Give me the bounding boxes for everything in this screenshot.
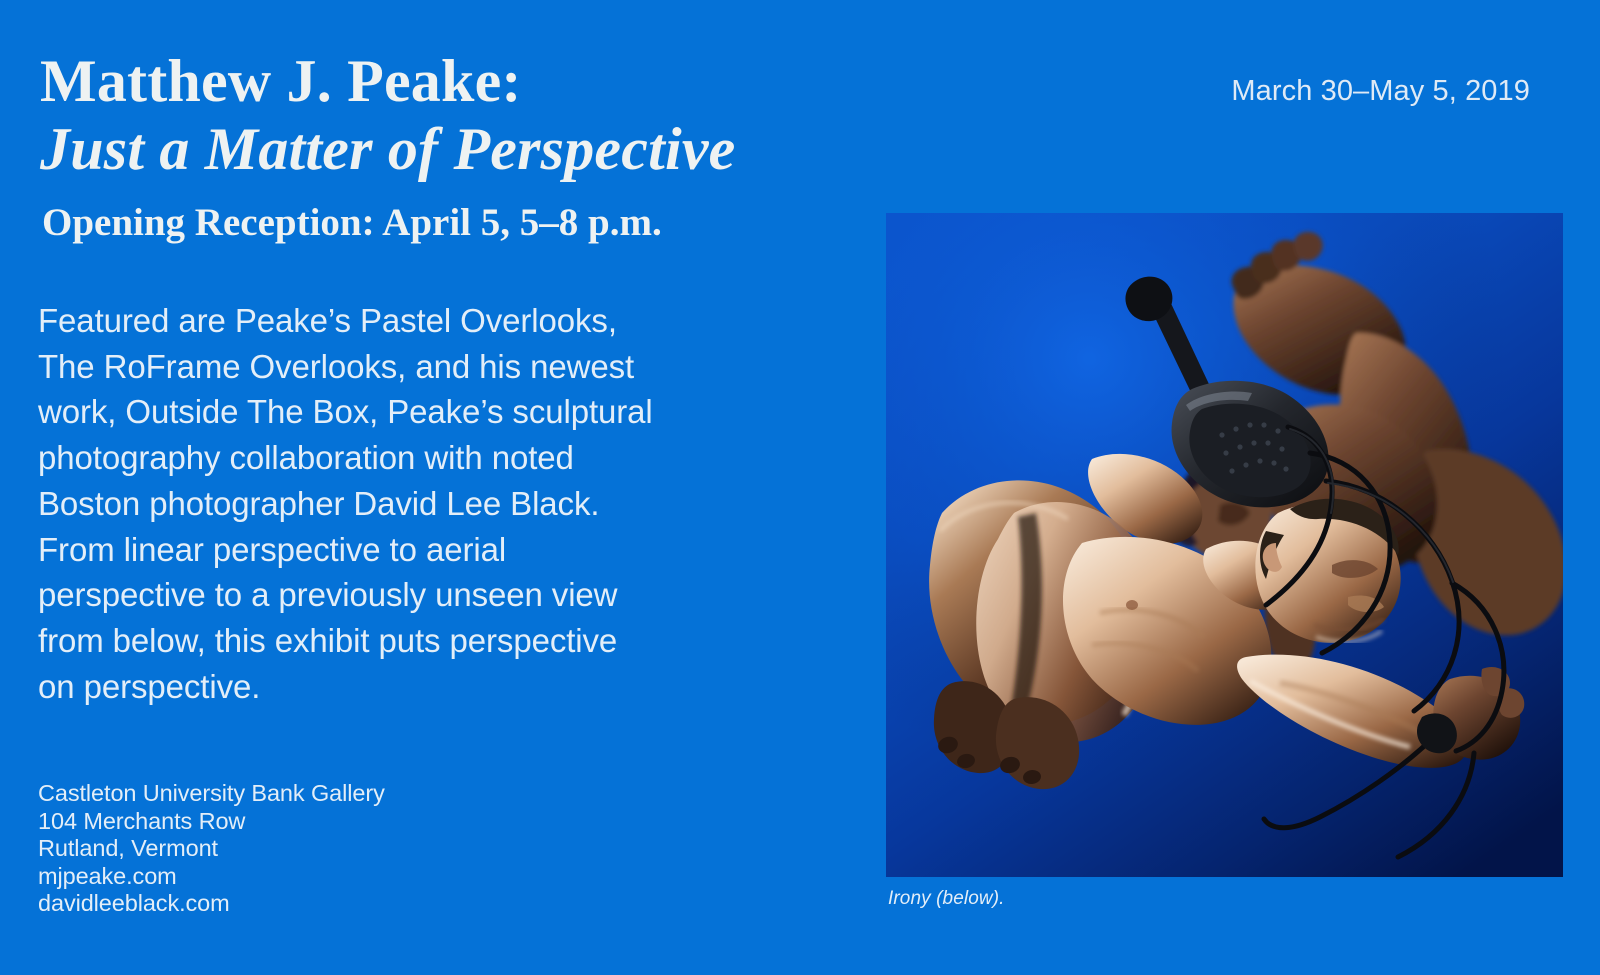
exhibition-dates: March 30–May 5, 2019 — [1231, 74, 1530, 108]
page-subtitle: Just a Matter of Perspective — [40, 114, 1040, 184]
description-line: on perspective. — [38, 664, 828, 710]
artwork-figure: Irony (below). — [886, 213, 1563, 910]
description-line: From linear perspective to aerial — [38, 527, 828, 573]
description-line: from below, this exhibit puts perspectiv… — [38, 618, 828, 664]
description-line: photography collaboration with noted — [38, 435, 828, 481]
description-line: perspective to a previously unseen view — [38, 572, 828, 618]
page-title: Matthew J. Peake: — [40, 48, 1040, 114]
website-mjpeake[interactable]: mjpeake.com — [38, 863, 385, 891]
venue-block: Castleton University Bank Gallery 104 Me… — [38, 780, 385, 918]
website-davidleeblack[interactable]: davidleeblack.com — [38, 890, 385, 918]
description-line: Featured are Peake’s Pastel Overlooks, — [38, 298, 828, 344]
venue-name: Castleton University Bank Gallery — [38, 780, 385, 808]
description-line: work, Outside The Box, Peake’s sculptura… — [38, 389, 828, 435]
venue-street: 104 Merchants Row — [38, 808, 385, 836]
description-block: Featured are Peake’s Pastel Overlooks, T… — [38, 298, 828, 709]
artwork-photo — [886, 213, 1563, 877]
description-line: The RoFrame Overlooks, and his newest — [38, 344, 828, 390]
poster-canvas: Matthew J. Peake: Just a Matter of Persp… — [0, 0, 1600, 975]
venue-city: Rutland, Vermont — [38, 835, 385, 863]
artwork-illustration — [886, 213, 1563, 877]
description-line: Boston photographer David Lee Black. — [38, 481, 828, 527]
artwork-caption: Irony (below). — [886, 887, 1563, 910]
